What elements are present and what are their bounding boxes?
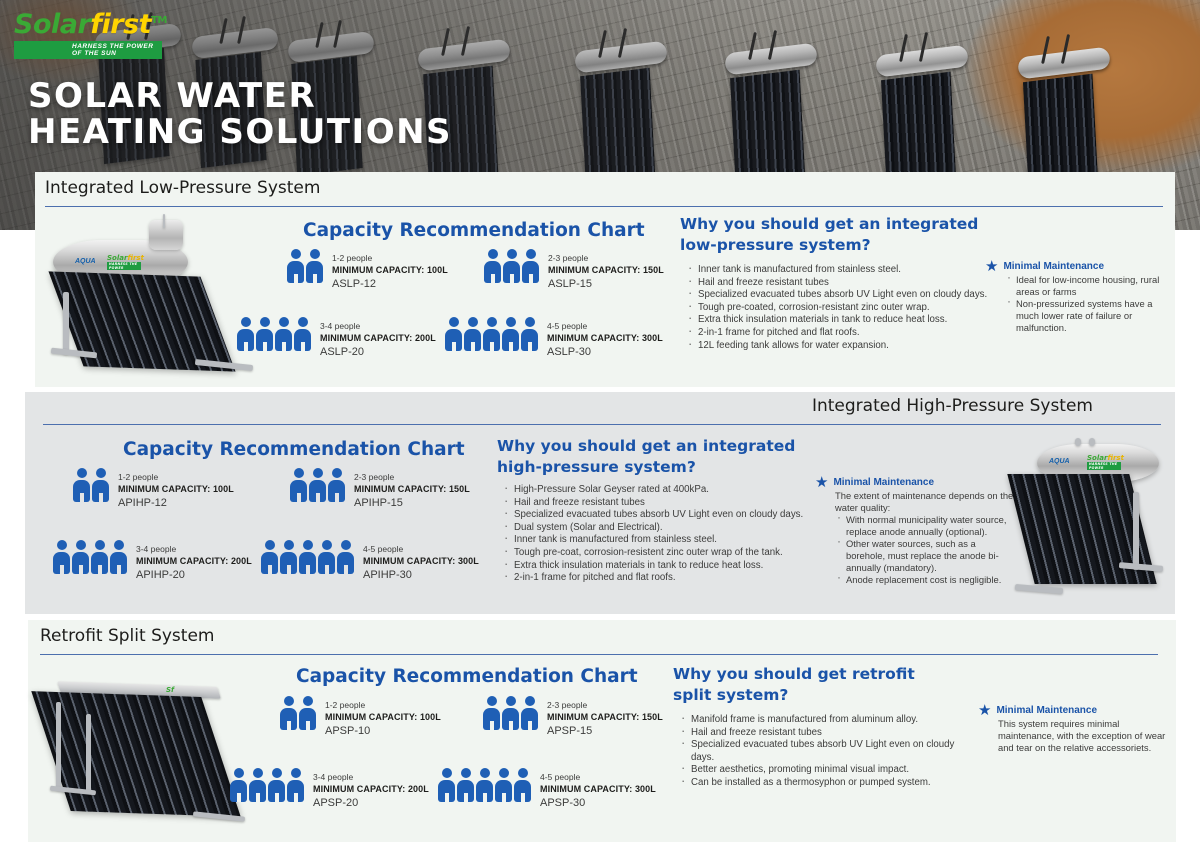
people-icons <box>280 696 316 730</box>
person-icon <box>457 768 474 802</box>
capacity-code: APIHP-15 <box>354 496 470 510</box>
people-icons <box>290 468 345 502</box>
capacity-chart-title: Capacity Recommendation Chart <box>123 439 465 460</box>
people-icons <box>230 768 304 802</box>
capacity-block: 2-3 people MINIMUM CAPACITY: 150L ASLP-1… <box>484 249 664 291</box>
why-title-line-1: Why you should get an integrated <box>497 436 827 457</box>
capacity-minimum: MINIMUM CAPACITY: 100L <box>118 483 234 496</box>
star-icon: ★ <box>985 260 998 274</box>
capacity-code: ASLP-15 <box>548 277 664 291</box>
capacity-minimum: MINIMUM CAPACITY: 200L <box>320 332 436 345</box>
why-title-line-2: high-pressure system? <box>497 457 827 478</box>
capacity-block: 4-5 people MINIMUM CAPACITY: 300L ASLP-3… <box>445 317 663 359</box>
product-logo: Sf <box>166 686 174 694</box>
capacity-people: 4-5 people <box>547 321 663 332</box>
product-logo: Solarfirst HARNESS THE POWER <box>107 254 144 270</box>
capacity-code: APIHP-20 <box>136 568 252 582</box>
maintenance-block: ★ Minimal Maintenance Ideal for low-inco… <box>985 260 1165 334</box>
maintenance-block: ★ Minimal Maintenance This system requir… <box>978 704 1168 754</box>
maintenance-item: With normal municipality water source, r… <box>835 514 1015 538</box>
section-divider <box>43 424 1161 425</box>
benefit-item: 2-in-1 frame for pitched and flat roofs. <box>501 572 829 585</box>
benefit-item: Better aesthetics, promoting minimal vis… <box>678 764 978 777</box>
maintenance-list: With normal municipality water source, r… <box>835 514 1015 586</box>
person-icon <box>484 249 501 283</box>
benefit-item: Extra thick insulation materials in tank… <box>685 314 990 327</box>
person-icon <box>318 540 335 574</box>
person-icon <box>476 768 493 802</box>
capacity-people: 2-3 people <box>354 472 470 483</box>
benefit-item: Inner tank is manufactured from stainles… <box>685 264 990 277</box>
capacity-minimum: MINIMUM CAPACITY: 150L <box>354 483 470 496</box>
hero-title: SOLAR WATER HEATING SOLUTIONS <box>28 78 452 150</box>
person-icon <box>503 249 520 283</box>
benefit-item: Specialized evacuated tubes absorb UV Li… <box>501 509 829 522</box>
section-divider <box>40 654 1158 655</box>
logo-first-text: first <box>90 9 151 40</box>
capacity-code: APIHP-30 <box>363 568 479 582</box>
person-icon <box>464 317 481 351</box>
capacity-minimum: MINIMUM CAPACITY: 300L <box>540 783 656 796</box>
section-title: Retrofit Split System <box>40 626 214 646</box>
capacity-block: 3-4 people MINIMUM CAPACITY: 200L APSP-2… <box>230 768 429 810</box>
capacity-block: 4-5 people MINIMUM CAPACITY: 300L APSP-3… <box>438 768 656 810</box>
benefit-item: High-Pressure Solar Geyser rated at 400k… <box>501 484 829 497</box>
capacity-minimum: MINIMUM CAPACITY: 150L <box>548 264 664 277</box>
capacity-block: 4-5 people MINIMUM CAPACITY: 300L APIHP-… <box>261 540 479 582</box>
person-icon <box>275 317 292 351</box>
maintenance-intro: The extent of maintenance depends on the… <box>835 490 1015 514</box>
maintenance-item: Other water sources, such as a borehole,… <box>835 538 1015 574</box>
person-icon <box>280 696 297 730</box>
capacity-people: 4-5 people <box>363 544 479 555</box>
why-title-line-2: split system? <box>673 685 1003 706</box>
maintenance-item: Anode replacement cost is negligible. <box>835 574 1015 586</box>
section-divider <box>45 206 1163 207</box>
person-icon <box>237 317 254 351</box>
maintenance-title: Minimal Maintenance <box>833 476 934 490</box>
capacity-people: 3-4 people <box>320 321 436 332</box>
why-title-line-2: low-pressure system? <box>680 235 1010 256</box>
person-icon <box>521 696 538 730</box>
capacity-people: 1-2 people <box>325 700 441 711</box>
people-icons <box>484 249 539 283</box>
person-icon <box>514 768 531 802</box>
person-icon <box>72 540 89 574</box>
people-icons <box>53 540 127 574</box>
benefit-item: Inner tank is manufactured from stainles… <box>501 534 829 547</box>
section-integrated-low-pressure: Integrated Low-Pressure System Solarfirs… <box>35 172 1175 387</box>
section-retrofit-split: Retrofit Split System Sf Capacity Recomm… <box>28 620 1176 842</box>
person-icon <box>483 696 500 730</box>
maintenance-item: Non-pressurized systems have a much lowe… <box>1005 298 1165 334</box>
maintenance-title: Minimal Maintenance <box>996 704 1097 718</box>
people-icons <box>261 540 354 574</box>
hero-title-line-2: HEATING SOLUTIONS <box>28 114 452 150</box>
maintenance-block: ★ Minimal Maintenance The extent of main… <box>815 476 1015 586</box>
person-icon <box>53 540 70 574</box>
capacity-people: 1-2 people <box>332 253 448 264</box>
capacity-block: 3-4 people MINIMUM CAPACITY: 200L APIHP-… <box>53 540 252 582</box>
capacity-block: 1-2 people MINIMUM CAPACITY: 100L APIHP-… <box>73 468 234 510</box>
person-icon <box>92 468 109 502</box>
section-integrated-high-pressure: Integrated High-Pressure System Capacity… <box>25 392 1175 614</box>
person-icon <box>328 468 345 502</box>
person-icon <box>294 317 311 351</box>
capacity-minimum: MINIMUM CAPACITY: 100L <box>332 264 448 277</box>
people-icons <box>237 317 311 351</box>
person-icon <box>91 540 108 574</box>
product-image-retrofit-split: Sf <box>38 662 253 832</box>
benefit-item: 12L feeding tank allows for water expans… <box>685 340 990 353</box>
person-icon <box>268 768 285 802</box>
benefit-item: Can be installed as a thermosyphon or pu… <box>678 777 978 790</box>
capacity-code: APSP-20 <box>313 796 429 810</box>
benefit-item: Extra thick insulation materials in tank… <box>501 560 829 573</box>
capacity-people: 3-4 people <box>313 772 429 783</box>
people-icons <box>438 768 531 802</box>
capacity-code: APIHP-12 <box>118 496 234 510</box>
product-image-high-pressure: Solarfirst HARNESS THE POWER AQUA <box>1015 434 1175 606</box>
benefits-list: Inner tank is manufactured from stainles… <box>685 264 990 352</box>
person-icon <box>287 249 304 283</box>
person-icon <box>287 768 304 802</box>
capacity-people: 3-4 people <box>136 544 252 555</box>
infographic-page: SOLAR WATER HEATING SOLUTIONS Solarfirst… <box>0 0 1200 849</box>
person-icon <box>521 317 538 351</box>
capacity-code: ASLP-20 <box>320 345 436 359</box>
capacity-people: 2-3 people <box>548 253 664 264</box>
why-title: Why you should get an integrated low-pre… <box>680 214 1010 256</box>
capacity-code: APSP-10 <box>325 724 441 738</box>
person-icon <box>445 317 462 351</box>
person-icon <box>483 317 500 351</box>
benefits-list: High-Pressure Solar Geyser rated at 400k… <box>501 484 829 585</box>
section-title: Integrated Low-Pressure System <box>45 178 320 198</box>
section-title: Integrated High-Pressure System <box>812 396 1093 416</box>
benefit-item: Manifold frame is manufactured from alum… <box>678 714 978 727</box>
capacity-chart-title: Capacity Recommendation Chart <box>303 220 645 241</box>
capacity-block: 1-2 people MINIMUM CAPACITY: 100L ASLP-1… <box>287 249 448 291</box>
why-title: Why you should get an integrated high-pr… <box>497 436 827 478</box>
star-icon: ★ <box>978 704 991 718</box>
benefit-item: Tough pre-coat, corrosion-resistent zinc… <box>501 547 829 560</box>
capacity-minimum: MINIMUM CAPACITY: 300L <box>363 555 479 568</box>
benefit-item: Hail and freeze resistant tubes <box>501 497 829 510</box>
maintenance-title: Minimal Maintenance <box>1003 260 1104 274</box>
capacity-minimum: MINIMUM CAPACITY: 300L <box>547 332 663 345</box>
benefit-item: Dual system (Solar and Electrical). <box>501 522 829 535</box>
capacity-chart-title: Capacity Recommendation Chart <box>296 666 638 687</box>
why-title-line-1: Why you should get an integrated <box>680 214 1010 235</box>
person-icon <box>230 768 247 802</box>
product-logo: Solarfirst HARNESS THE POWER <box>1087 454 1124 470</box>
hero-title-line-1: SOLAR WATER <box>28 78 452 114</box>
person-icon <box>438 768 455 802</box>
capacity-block: 2-3 people MINIMUM CAPACITY: 150L APIHP-… <box>290 468 470 510</box>
person-icon <box>299 540 316 574</box>
capacity-code: ASLP-12 <box>332 277 448 291</box>
person-icon <box>299 696 316 730</box>
person-icon <box>256 317 273 351</box>
maintenance-intro: This system requires minimal maintenance… <box>998 718 1168 754</box>
capacity-block: 3-4 people MINIMUM CAPACITY: 200L ASLP-2… <box>237 317 436 359</box>
person-icon <box>290 468 307 502</box>
capacity-people: 2-3 people <box>547 700 663 711</box>
logo-wordmark: SolarfirstTM <box>14 6 154 40</box>
capacity-minimum: MINIMUM CAPACITY: 200L <box>136 555 252 568</box>
logo-solar-text: Solar <box>14 9 90 40</box>
brand-logo[interactable]: SolarfirstTM HARNESS THE POWER OF THE SU… <box>14 6 154 59</box>
benefit-item: Tough pre-coated, corrosion-resistant zi… <box>685 302 990 315</box>
maintenance-list: Ideal for low-income housing, rural area… <box>1005 274 1165 334</box>
person-icon <box>495 768 512 802</box>
capacity-code: ASLP-30 <box>547 345 663 359</box>
person-icon <box>502 696 519 730</box>
capacity-people: 1-2 people <box>118 472 234 483</box>
star-icon: ★ <box>815 476 828 490</box>
benefit-item: Specialized evacuated tubes absorb UV Li… <box>678 739 978 764</box>
person-icon <box>309 468 326 502</box>
capacity-code: APSP-15 <box>547 724 663 738</box>
benefit-item: Hail and freeze resistant tubes <box>678 727 978 740</box>
why-title-line-1: Why you should get retrofit <box>673 664 1003 685</box>
people-icons <box>445 317 538 351</box>
capacity-minimum: MINIMUM CAPACITY: 100L <box>325 711 441 724</box>
people-icons <box>287 249 323 283</box>
person-icon <box>261 540 278 574</box>
person-icon <box>522 249 539 283</box>
person-icon <box>280 540 297 574</box>
person-icon <box>249 768 266 802</box>
capacity-minimum: MINIMUM CAPACITY: 200L <box>313 783 429 796</box>
person-icon <box>337 540 354 574</box>
people-icons <box>483 696 538 730</box>
benefit-item: 2-in-1 frame for pitched and flat roofs. <box>685 327 990 340</box>
benefit-item: Hail and freeze resistant tubes <box>685 277 990 290</box>
person-icon <box>73 468 90 502</box>
person-icon <box>306 249 323 283</box>
capacity-people: 4-5 people <box>540 772 656 783</box>
why-title: Why you should get retrofit split system… <box>673 664 1003 706</box>
capacity-minimum: MINIMUM CAPACITY: 150L <box>547 711 663 724</box>
person-icon <box>110 540 127 574</box>
people-icons <box>73 468 109 502</box>
capacity-block: 2-3 people MINIMUM CAPACITY: 150L APSP-1… <box>483 696 663 738</box>
capacity-code: APSP-30 <box>540 796 656 810</box>
maintenance-item: Ideal for low-income housing, rural area… <box>1005 274 1165 298</box>
capacity-block: 1-2 people MINIMUM CAPACITY: 100L APSP-1… <box>280 696 441 738</box>
trademark-icon: TM <box>151 15 167 26</box>
person-icon <box>502 317 519 351</box>
logo-tagline: HARNESS THE POWER OF THE SUN <box>14 41 162 59</box>
benefits-list: Manifold frame is manufactured from alum… <box>678 714 978 790</box>
product-image-low-pressure: Solarfirst HARNESS THE POWER AQUA <box>45 214 260 379</box>
benefit-item: Specialized evacuated tubes absorb UV Li… <box>685 289 990 302</box>
